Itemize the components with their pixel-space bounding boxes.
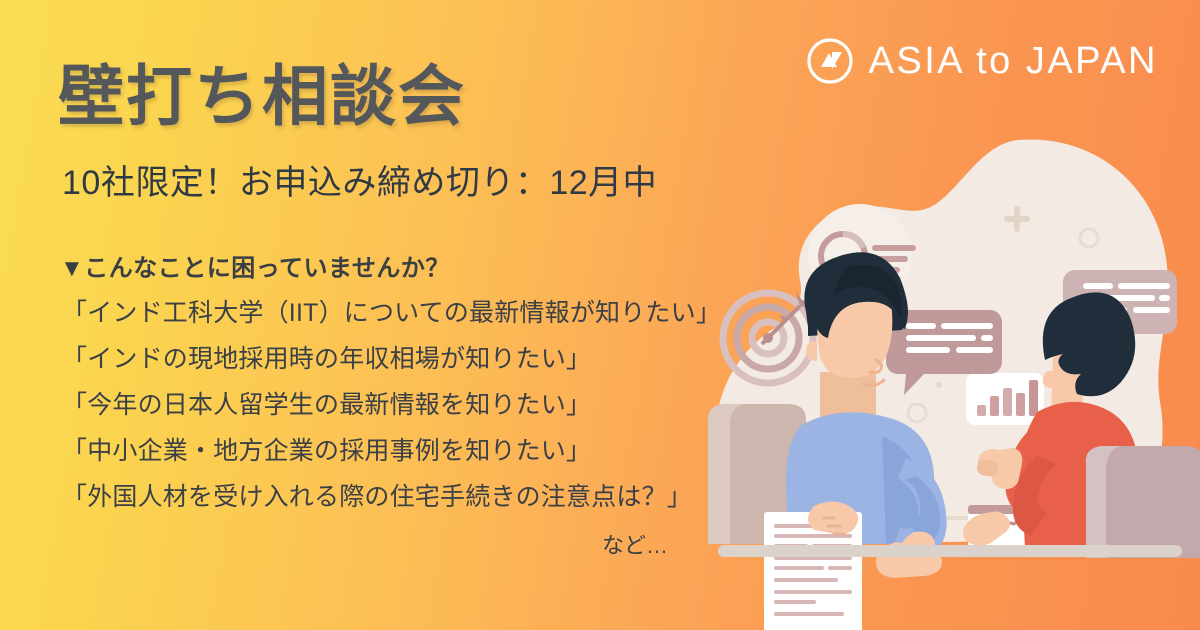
questions-heading: ▼こんなことに困っていませんか？ (60, 248, 450, 283)
desk-surface (718, 545, 1182, 557)
target-dartboard-icon (723, 292, 813, 383)
asia-to-japan-mark-icon (805, 36, 855, 86)
question-item-5: 「外国人材を受け入れる際の住宅手続きの注意点は？」 (62, 477, 692, 513)
brand-logo[interactable]: ASIA to JAPAN (805, 36, 1158, 86)
page-subtitle: 10社限定！お申込み締め切り：12月中 (62, 155, 657, 204)
etcetera-label: など… (0, 528, 668, 560)
logo-wordmark: ASIA to JAPAN (869, 42, 1158, 80)
bar-chart-card (966, 373, 1044, 425)
dot-decoration (936, 382, 942, 388)
page-title: 壁打ち相談会 (58, 60, 466, 133)
question-item-3: 「今年の日本人留学生の最新情報を知りたい」 (62, 385, 591, 421)
question-item-1: 「インド工科大学（IIT）についての最新情報が知りたい」 (62, 293, 721, 329)
banner-root: ASIA to JAPAN 壁打ち相談会 10社限定！お申込み締め切り：12月中… (0, 0, 1200, 630)
text-column: 壁打ち相談会 10社限定！お申込み締め切り：12月中 ▼こんなことに困っていませ… (0, 0, 730, 630)
question-item-4: 「中小企業・地方企業の採用事例を知りたい」 (62, 431, 591, 467)
illustration (700, 120, 1200, 630)
question-item-2: 「インドの現地採用時の年収相場が知りたい」 (62, 339, 591, 375)
